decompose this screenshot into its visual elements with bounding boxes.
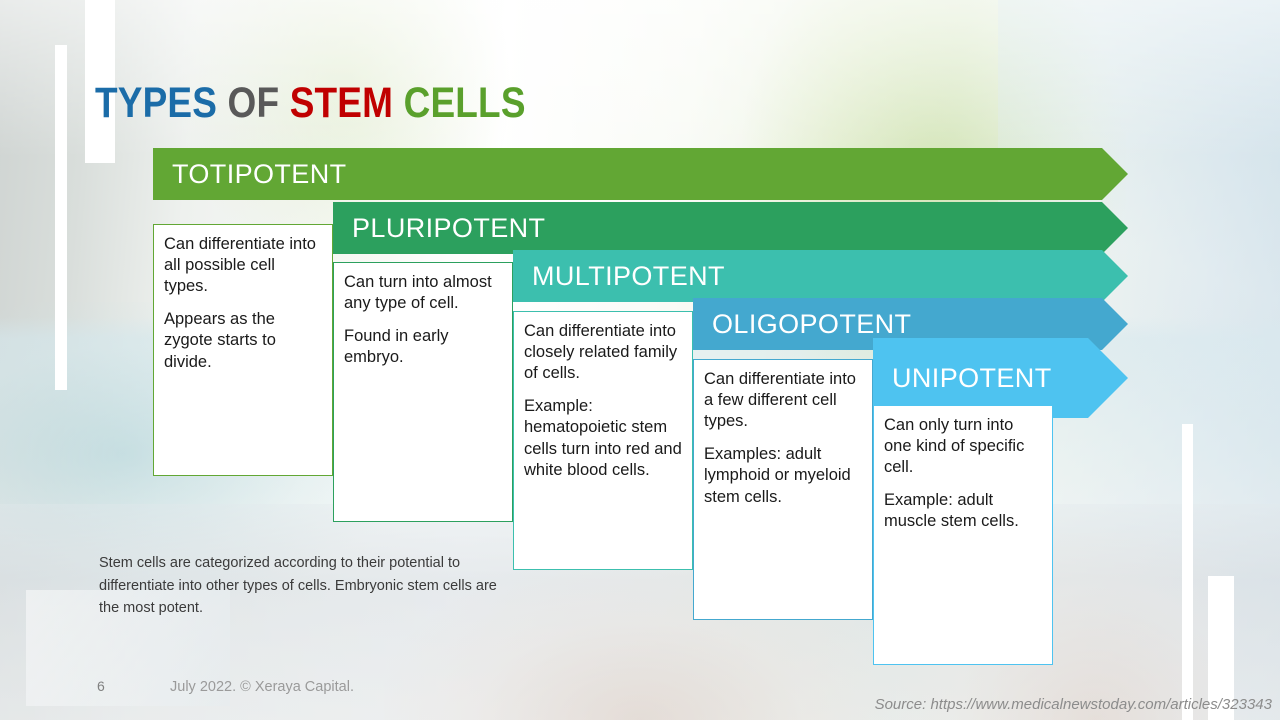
chevron-arrow-pluripotent bbox=[1057, 202, 1128, 254]
description-box-totipotent: Can differentiate into all possible cell… bbox=[153, 224, 333, 476]
chevron-band-multipotent[interactable]: MULTIPOTENT bbox=[513, 250, 1128, 302]
description-paragraph: Can differentiate into closely related f… bbox=[524, 321, 682, 384]
footer-text: July 2022. © Xeraya Capital. bbox=[170, 679, 354, 695]
chevron-arrow-totipotent bbox=[1057, 148, 1128, 200]
description-paragraph: Example: adult muscle stem cells. bbox=[884, 490, 1042, 532]
description-paragraph: Can differentiate into a few different c… bbox=[704, 369, 862, 432]
title-part-of: OF bbox=[228, 79, 290, 127]
slide-canvas: TYPES OF STEM CELLS TOTIPOTENT PLURIPOTE… bbox=[0, 0, 1280, 720]
caption-text: Stem cells are categorized according to … bbox=[99, 552, 519, 620]
title-part-cells: CELLS bbox=[404, 79, 526, 127]
chevron-label-totipotent: TOTIPOTENT bbox=[153, 159, 347, 190]
description-paragraph: Can turn into almost any type of cell. bbox=[344, 272, 502, 314]
chevron-label-multipotent: MULTIPOTENT bbox=[513, 261, 725, 292]
description-box-pluripotent: Can turn into almost any type of cell. F… bbox=[333, 262, 513, 522]
chevron-band-pluripotent[interactable]: PLURIPOTENT bbox=[333, 202, 1128, 254]
decor-bar-left-1 bbox=[55, 45, 67, 390]
chevron-arrow-multipotent bbox=[1057, 250, 1128, 302]
description-box-unipotent: Can only turn into one kind of specific … bbox=[873, 405, 1053, 665]
chevron-label-pluripotent: PLURIPOTENT bbox=[333, 213, 545, 244]
decor-bar-right-1 bbox=[1182, 424, 1193, 720]
chevron-label-unipotent: UNIPOTENT bbox=[873, 363, 1052, 394]
description-paragraph: Can only turn into one kind of specific … bbox=[884, 415, 1042, 478]
slide-number: 6 bbox=[97, 678, 105, 694]
title-part-types: TYPES bbox=[95, 79, 228, 127]
description-paragraph: Example: hematopoietic stem cells turn i… bbox=[524, 396, 682, 480]
title-part-stem: STEM bbox=[290, 79, 404, 127]
description-paragraph: Examples: adult lymphoid or myeloid stem… bbox=[704, 444, 862, 507]
description-paragraph: Can differentiate into all possible cell… bbox=[164, 234, 322, 297]
description-box-multipotent: Can differentiate into closely related f… bbox=[513, 311, 693, 570]
description-box-oligopotent: Can differentiate into a few different c… bbox=[693, 359, 873, 620]
description-paragraph: Found in early embryo. bbox=[344, 326, 502, 368]
source-citation: Source: https://www.medicalnewstoday.com… bbox=[875, 696, 1272, 713]
chevron-band-totipotent[interactable]: TOTIPOTENT bbox=[153, 148, 1128, 200]
chevron-arrow-unipotent bbox=[1057, 338, 1128, 418]
page-title: TYPES OF STEM CELLS bbox=[95, 79, 526, 128]
chevron-label-oligopotent: OLIGOPOTENT bbox=[693, 309, 911, 340]
description-paragraph: Appears as the zygote starts to divide. bbox=[164, 309, 322, 372]
